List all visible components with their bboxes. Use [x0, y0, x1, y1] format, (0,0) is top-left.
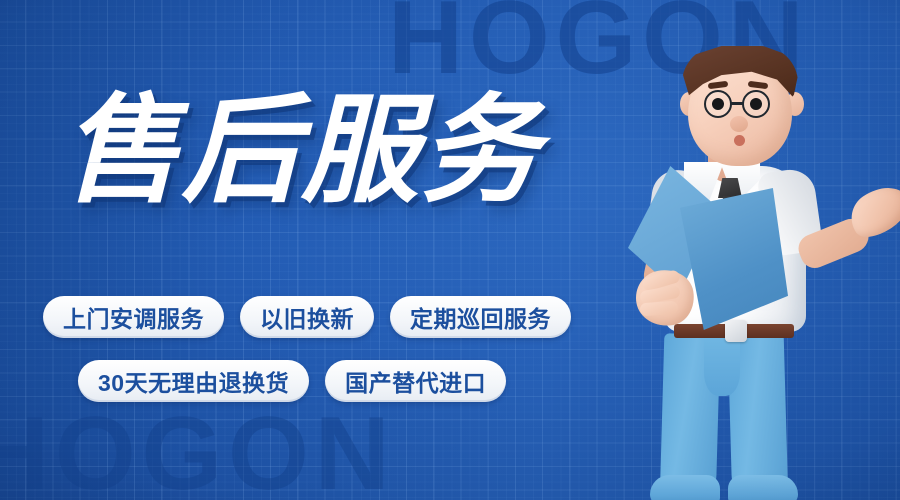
service-banner: HOGON HOGON [0, 0, 900, 500]
folder-panel-right [680, 188, 788, 330]
character-finger-3 [640, 301, 679, 317]
